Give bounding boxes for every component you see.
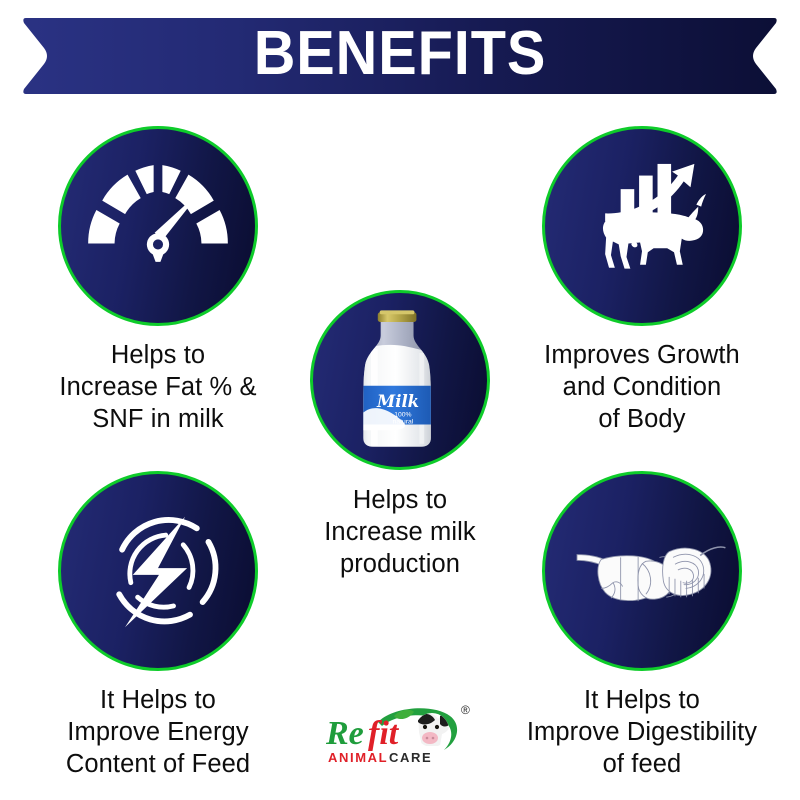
brand-logo[interactable]: Re fit ® ANIMAL CARE (322, 700, 482, 778)
benefit-icon-circle (58, 471, 258, 671)
benefit-item-milk-production: Milk 100% natural Helps to Increase milk… (285, 290, 515, 580)
milk-label-title: Milk (376, 392, 419, 411)
benefit-caption: It Helps to Improve Digestibility of fee… (527, 684, 757, 780)
logo-registered-mark: ® (461, 703, 470, 717)
milk-label-subtitle-2: natural (393, 419, 414, 426)
benefit-caption: Improves Growth and Condition of Body (544, 339, 740, 435)
benefit-item-fat-snf: Helps to Increase Fat % & SNF in milk (8, 126, 308, 435)
gauge-meter-icon (61, 126, 255, 326)
benefit-item-energy-feed: It Helps to Improve Energy Content of Fe… (8, 471, 308, 780)
logo-tagline-part1: ANIMAL (328, 750, 388, 765)
logo-tagline-part2: CARE (389, 750, 432, 765)
benefit-caption: Helps to Increase milk production (324, 484, 476, 580)
lightning-bolt-icon (61, 471, 255, 671)
cow-growth-chart-icon (545, 126, 739, 326)
benefit-icon-circle (542, 126, 742, 326)
logo-name-part2: fit (368, 715, 400, 752)
benefit-icon-circle (58, 126, 258, 326)
logo-name-part1: Re (325, 715, 364, 752)
benefit-icon-circle (542, 471, 742, 671)
digestive-tract-icon (545, 471, 739, 671)
benefit-item-digestibility-feed: It Helps to Improve Digestibility of fee… (492, 471, 792, 780)
page-title: BENEFITS (28, 14, 772, 98)
benefit-icon-circle: Milk 100% natural (310, 290, 490, 470)
header-banner: BENEFITS (0, 14, 800, 98)
logo-leaf-icon (394, 710, 414, 719)
benefit-caption: Helps to Increase Fat % & SNF in milk (59, 339, 256, 435)
benefit-item-growth-condition: Improves Growth and Condition of Body (492, 126, 792, 435)
milk-bottle-icon: Milk 100% natural (313, 290, 487, 470)
benefit-caption: It Helps to Improve Energy Content of Fe… (66, 684, 250, 780)
